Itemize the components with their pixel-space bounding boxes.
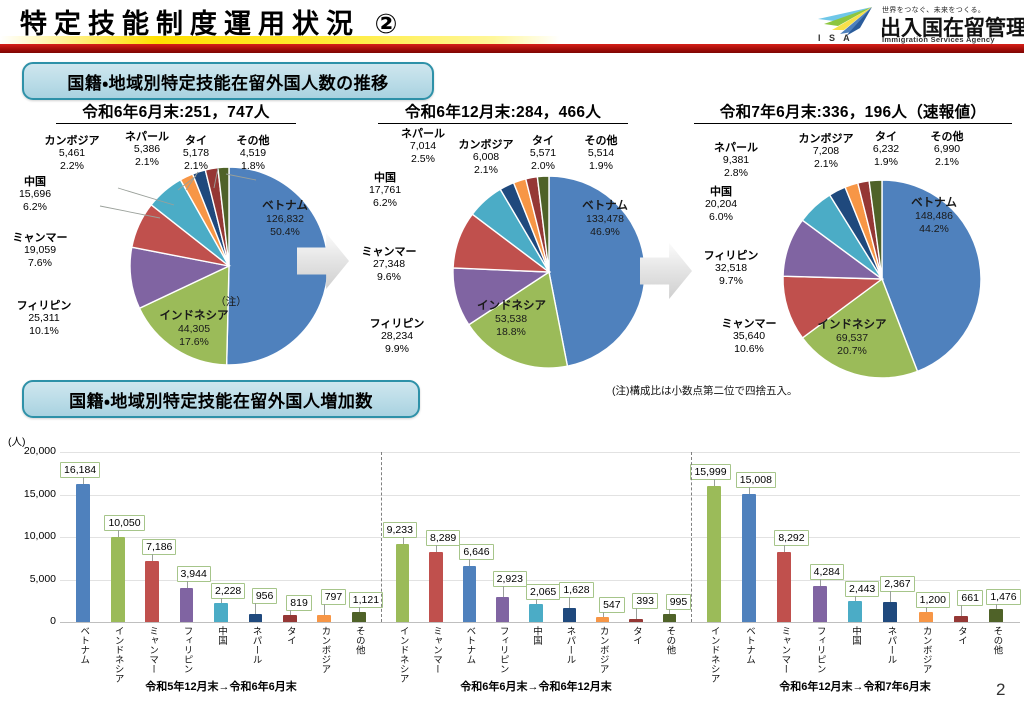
pie-title-3: 令和7年6月末:336，196人（速報値） xyxy=(694,100,1012,124)
bar-value-ネパール: 1,628 xyxy=(559,582,593,598)
pie-label-その他: その他4,5191.8% xyxy=(224,135,282,172)
bar-その他 xyxy=(352,612,366,622)
bar-value-フィリピン: 3,944 xyxy=(177,566,211,582)
bar-フィリピン xyxy=(180,588,194,622)
y-axis-tick-20000: 20,000 xyxy=(4,445,56,457)
bar-value-leader xyxy=(255,603,256,614)
bar-ミャンマー xyxy=(145,561,159,622)
bar-ベトナム xyxy=(742,494,756,622)
bar-フィリピン xyxy=(496,597,509,622)
x-axis-label-ミャンマー: ミャンマー xyxy=(431,626,441,674)
bar-value-leader xyxy=(83,477,84,484)
pie-footnote: (注)構成比は小数点第二位で四捨五入。 xyxy=(612,383,798,398)
x-axis-label-インドネシア: インドネシア xyxy=(709,626,719,683)
x-axis-label-タイ: タイ xyxy=(285,626,295,645)
isa-paper-plane-icon xyxy=(812,6,874,36)
x-axis-label-中国: 中国 xyxy=(850,626,860,645)
pie-label-タイ: タイ5,1782.1% xyxy=(176,135,216,172)
bar-value-leader xyxy=(187,581,188,588)
bar-カンボジア xyxy=(596,617,609,622)
bar-ベトナム xyxy=(76,484,90,622)
bar-インドネシア xyxy=(396,544,409,622)
bar-value-leader xyxy=(118,530,119,537)
bar-中国 xyxy=(529,604,542,622)
x-axis-label-フィリピン: フィリピン xyxy=(182,626,192,674)
x-axis-label-ベトナム: ベトナム xyxy=(464,626,474,664)
group-caption-2: 令和6年6月末→令和6年12月末 xyxy=(386,678,686,694)
bar-インドネシア xyxy=(111,537,125,622)
pie-label-ネパール: ネパール9,3812.8% xyxy=(700,142,772,179)
section-header-pie: 国籍・地域別特定技能在留外国人数の推移 xyxy=(22,62,434,100)
bar-value-ミャンマー: 8,292 xyxy=(774,530,808,546)
pie-label-中国: 中国20,2046.0% xyxy=(692,186,750,223)
x-axis-label-カンボジア: カンボジア xyxy=(921,626,931,674)
pie-label-ミャンマー: ミャンマー27,3489.6% xyxy=(348,246,430,283)
bar-value-カンボジア: 1,200 xyxy=(916,592,950,608)
x-axis-label-カンボジア: カンボジア xyxy=(319,626,329,674)
bar-value-leader xyxy=(469,559,470,566)
pie-label-タイ: タイ5,5712.0% xyxy=(522,135,564,172)
bar-value-フィリピン: 4,284 xyxy=(810,564,844,580)
bar-ネパール xyxy=(563,608,576,622)
x-axis-label-中国: 中国 xyxy=(216,626,226,645)
bar-value-leader xyxy=(569,597,570,608)
bar-value-leader xyxy=(636,608,637,619)
pie-label-ネパール: ネパール5,3862.1% xyxy=(118,131,176,168)
x-axis-label-ベトナム: ベトナム xyxy=(744,626,754,664)
logo-isa-text: I S A xyxy=(818,33,853,43)
bar-ベトナム xyxy=(463,566,476,622)
pie-inner-label-ベトナム: ベトナム126,83250.4% xyxy=(239,200,331,239)
bar-value-その他: 1,121 xyxy=(349,592,383,608)
pie-label-中国: 中国15,6966.2% xyxy=(4,176,66,213)
pie-label-フィリピン: フィリピン32,5189.7% xyxy=(692,250,770,287)
bar-インドネシア xyxy=(707,486,721,622)
bar-value-中国: 2,228 xyxy=(211,583,245,599)
x-axis-label-フィリピン: フィリピン xyxy=(498,626,508,674)
bar-value-leader xyxy=(784,545,785,552)
x-axis-label-ネパール: ネパール xyxy=(250,626,260,664)
bar-value-ネパール: 2,367 xyxy=(880,576,914,592)
x-axis-label-フィリピン: フィリピン xyxy=(815,626,825,674)
x-axis-label-インドネシア: インドネシア xyxy=(113,626,123,683)
pie-inner-label-インドネシア: インドネシア44,30517.6% xyxy=(151,310,237,349)
x-axis-label-ミャンマー: ミャンマー xyxy=(779,626,789,674)
bar-value-leader xyxy=(855,596,856,601)
x-axis-label-中国: 中国 xyxy=(531,626,541,645)
x-axis-label-タイ: タイ xyxy=(956,626,966,645)
bar-value-leader xyxy=(290,610,291,615)
bar-value-leader xyxy=(359,607,360,612)
pie-label-カンボジア: カンボジア6,0082.1% xyxy=(450,139,522,176)
pie-label-タイ: タイ6,2321.9% xyxy=(866,131,906,168)
bar-value-leader xyxy=(221,598,222,603)
bar-value-カンボジア: 547 xyxy=(599,597,625,613)
bar-カンボジア xyxy=(919,612,933,622)
bar-ミャンマー xyxy=(429,552,442,622)
gridline-10000 xyxy=(60,537,1020,538)
group-divider-1 xyxy=(381,452,382,622)
pie-inner-label-インドネシア: インドネシア69,53720.7% xyxy=(808,319,896,358)
bar-value-leader xyxy=(669,609,670,614)
bar-value-タイ: 661 xyxy=(957,590,983,606)
x-axis-label-その他: その他 xyxy=(354,626,364,655)
pie-inner-label-ベトナム: ベトナム133,47846.9% xyxy=(559,200,651,239)
x-axis-label-ネパール: ネパール xyxy=(564,626,574,664)
agency-logo: I S A 世界をつなぐ、未来をつくる。 出入国在留管理庁 Immigratio… xyxy=(812,3,1017,45)
bar-タイ xyxy=(629,619,642,622)
bar-value-ミャンマー: 8,289 xyxy=(426,530,460,546)
bar-value-インドネシア: 9,233 xyxy=(383,522,417,538)
bar-value-中国: 2,443 xyxy=(845,581,879,597)
bar-value-leader xyxy=(603,612,604,617)
bar-タイ xyxy=(283,615,297,622)
bar-タイ xyxy=(954,616,968,622)
pie-label-フィリピン: フィリピン25,31110.1% xyxy=(6,300,82,337)
x-axis-label-インドネシア: インドネシア xyxy=(398,626,408,683)
pie-label-ネパール: ネパール7,0142.5% xyxy=(400,128,446,165)
bar-value-ミャンマー: 7,186 xyxy=(142,539,176,555)
bar-value-leader xyxy=(961,605,962,616)
section-header-bar: 国籍・地域別特定技能在留外国人増加数 xyxy=(22,380,420,418)
bar-value-タイ: 393 xyxy=(632,593,658,609)
group-caption-1: 令和5年12月末→令和6年6月末 xyxy=(66,678,376,694)
bar-value-カンボジア: 797 xyxy=(321,589,347,605)
bar-value-leader xyxy=(324,604,325,615)
group-divider-2 xyxy=(691,452,692,622)
y-axis-tick-5000: 5,000 xyxy=(4,573,56,585)
bar-value-ネパール: 956 xyxy=(252,588,278,604)
bar-value-ベトナム: 16,184 xyxy=(60,462,100,478)
bar-その他 xyxy=(989,609,1003,622)
y-axis-tick-0: 0 xyxy=(4,615,56,627)
bar-value-leader xyxy=(820,579,821,586)
bar-ネパール xyxy=(883,602,897,622)
bar-value-中国: 2,065 xyxy=(526,584,560,600)
bar-value-その他: 995 xyxy=(666,594,692,610)
y-axis-tick-15000: 15,000 xyxy=(4,488,56,500)
pie-label-中国: 中国17,7616.2% xyxy=(358,172,412,209)
bar-value-leader xyxy=(152,554,153,561)
gridline-20000 xyxy=(60,452,1020,453)
bar-中国 xyxy=(214,603,228,622)
bar-value-ベトナム: 15,008 xyxy=(736,472,776,488)
pie-label-ミャンマー: ミャンマー35,64010.6% xyxy=(708,318,790,355)
pie-label-その他: その他6,9902.1% xyxy=(918,131,976,168)
pie-inner-label-インドネシア: インドネシア53,53818.8% xyxy=(477,300,545,339)
bar-value-leader xyxy=(749,487,750,494)
bar-value-フィリピン: 2,923 xyxy=(493,571,527,587)
bar-value-leader xyxy=(403,537,404,544)
bar-value-leader xyxy=(996,604,997,609)
x-axis-label-タイ: タイ xyxy=(631,626,641,645)
pie-title-2: 令和6年12月末:284，466人 xyxy=(378,100,628,124)
pie-title-1: 令和6年6月末:251，747人 xyxy=(56,100,296,124)
bar-その他 xyxy=(663,614,676,622)
bar-ミャンマー xyxy=(777,552,791,622)
pie-label-その他: その他5,5141.9% xyxy=(572,135,630,172)
bar-value-leader xyxy=(926,607,927,612)
pie-label-カンボジア: カンボジア5,4612.2% xyxy=(36,135,108,172)
y-axis-tick-10000: 10,000 xyxy=(4,530,56,542)
pie-label-ミャンマー: ミャンマー19,0597.6% xyxy=(2,232,78,269)
page-number: 2 xyxy=(996,680,1005,700)
bar-value-タイ: 819 xyxy=(286,595,312,611)
bar-value-インドネシア: 15,999 xyxy=(690,464,730,480)
bar-ネパール xyxy=(249,614,263,622)
pie-label-カンボジア: カンボジア7,2082.1% xyxy=(790,133,862,170)
bar-value-leader xyxy=(436,545,437,552)
bar-フィリピン xyxy=(813,586,827,622)
bar-value-leader xyxy=(536,599,537,604)
bar-value-ベトナム: 6,646 xyxy=(459,544,493,560)
bar-value-leader xyxy=(714,479,715,486)
pie-label-フィリピン: フィリピン28,2349.9% xyxy=(358,318,436,355)
bar-value-leader xyxy=(503,586,504,597)
x-axis-label-ミャンマー: ミャンマー xyxy=(147,626,157,674)
group-caption-3: 令和6年12月末→令和7年6月末 xyxy=(696,678,1014,694)
pie-inner-note-marker: （注） xyxy=(196,296,266,309)
gridline-0 xyxy=(60,622,1020,623)
pie-inner-label-ベトナム: ベトナム148,48644.2% xyxy=(888,197,980,236)
title-red-bar xyxy=(0,44,1024,53)
x-axis-label-その他: その他 xyxy=(991,626,1001,655)
x-axis-label-ネパール: ネパール xyxy=(885,626,895,664)
x-axis-label-その他: その他 xyxy=(664,626,674,655)
bar-カンボジア xyxy=(317,615,331,622)
x-axis-label-ベトナム: ベトナム xyxy=(78,626,88,664)
gridline-15000 xyxy=(60,495,1020,496)
bar-value-leader xyxy=(890,591,891,602)
bar-中国 xyxy=(848,601,862,622)
logo-agency-en: Immigration Services Agency xyxy=(882,35,995,44)
bar-value-インドネシア: 10,050 xyxy=(104,515,144,531)
bar-value-その他: 1,476 xyxy=(986,589,1020,605)
x-axis-label-カンボジア: カンボジア xyxy=(598,626,608,674)
